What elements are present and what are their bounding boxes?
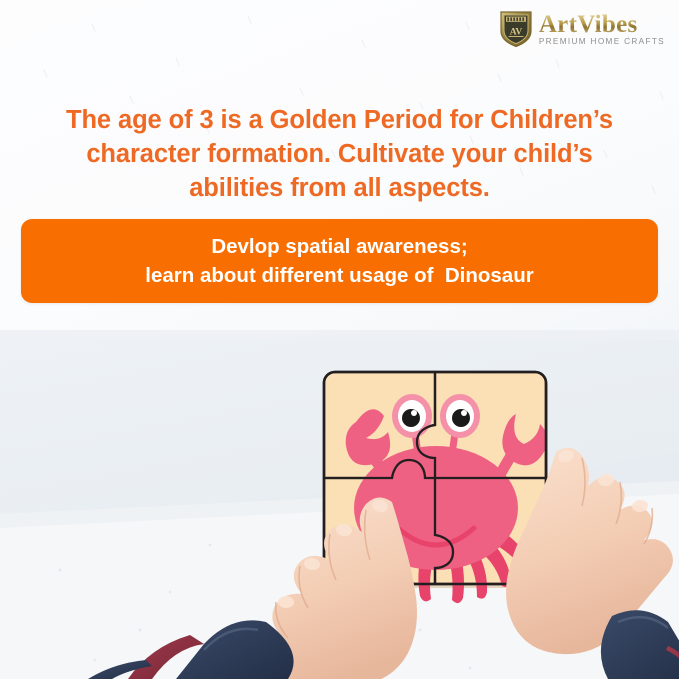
brand-wordmark: ArtVibes PREMIUM HOME CRAFTS (539, 12, 665, 46)
banner-line-1: Devlop spatial awareness; (211, 232, 467, 261)
headline: The age of 3 is a Golden Period for Chil… (0, 104, 679, 206)
shield-av-monogram-icon: AV (499, 10, 533, 48)
poster-canvas: AV ArtVibes PREMIUM HOME CRAFTS The age … (0, 0, 679, 679)
brand-logo[interactable]: AV ArtVibes PREMIUM HOME CRAFTS (499, 10, 665, 48)
feature-banner: Devlop spatial awareness; learn about di… (21, 219, 658, 303)
brand-tagline: PREMIUM HOME CRAFTS (539, 38, 665, 46)
banner-line-2: learn about different usage of Dinosaur (145, 261, 533, 290)
headline-line-2: character formation. Cultivate your chil… (36, 138, 643, 172)
brand-name: ArtVibes (539, 12, 665, 37)
headline-line-1: The age of 3 is a Golden Period for Chil… (36, 104, 643, 138)
product-photo (0, 330, 679, 679)
headline-line-3: abilities from all aspects. (36, 172, 643, 206)
